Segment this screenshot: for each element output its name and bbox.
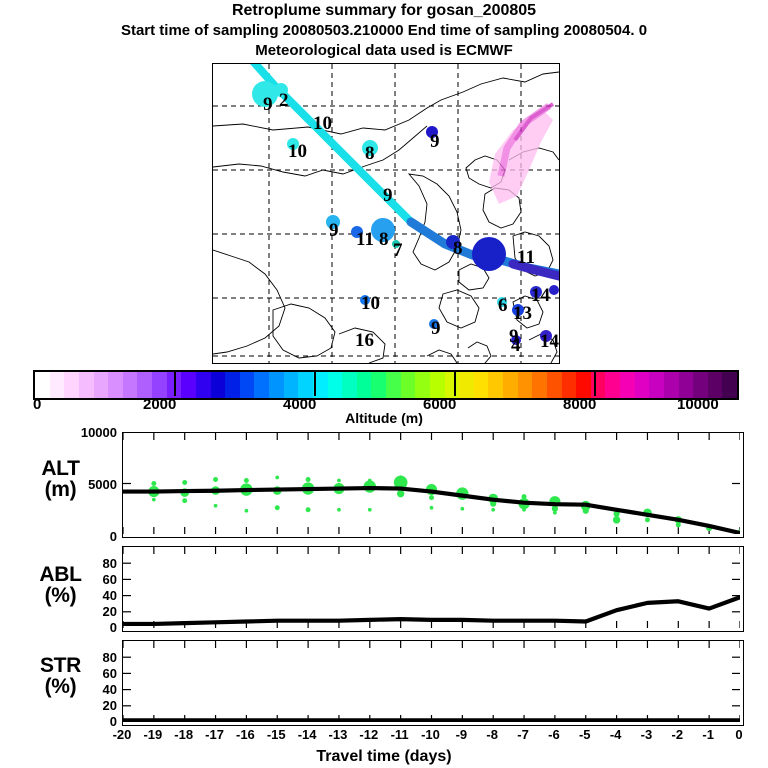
map-label-1: 2 [279,91,289,110]
retroplume-map[interactable]: 9210108999118781110916613149414 [212,63,560,364]
map-label-17: 13 [513,304,532,323]
colorbar-swatch-39 [605,372,620,398]
abl-ytick-0: 0 [55,620,117,635]
map-label-13: 10 [361,294,380,313]
map-label-15: 16 [355,331,374,350]
colorbar-swatch-36 [562,372,577,398]
colorbar-swatch-35 [547,372,562,398]
colorbar-swatch-15 [254,372,269,398]
colorbar-swatch-0 [35,372,50,398]
abl-plot-area[interactable] [122,546,744,632]
map-label-11: 8 [453,239,463,258]
colorbar-swatch-32 [503,372,518,398]
str-plot-canvas [123,641,740,722]
map-label-3: 10 [288,142,307,161]
map-label-6: 9 [383,186,393,205]
alt-plot-canvas [123,433,740,534]
colorbar-swatch-40 [620,372,635,398]
alt-ytick-0: 0 [55,529,117,544]
colorbar-swatch-20 [328,372,343,398]
colorbar-divider-4000 [314,370,316,396]
xaxis-title: Travel time (days) [0,748,768,766]
colorbar-swatch-28 [445,372,460,398]
abl-ytick-40: 40 [55,588,117,603]
colorbar-swatch-42 [649,372,664,398]
colorbar-swatch-8 [152,372,167,398]
str-ytick-60: 60 [55,666,117,681]
colorbar-swatch-46 [708,372,723,398]
colorbar-swatch-25 [401,372,416,398]
colorbar-swatch-4 [94,372,109,398]
colorbar-swatch-2 [64,372,79,398]
page-title: Retroplume summary for gosan_200805 [0,2,768,20]
colorbar-swatch-14 [240,372,255,398]
colorbar-swatch-5 [108,372,123,398]
colorbar-swatch-30 [474,372,489,398]
colorbar-swatch-26 [415,372,430,398]
map-label-21: 14 [540,332,559,351]
ytick-marks [123,657,740,706]
colorbar-divider-2000 [174,370,176,396]
colorbar-swatch-16 [269,372,284,398]
str-plot-area[interactable] [122,640,744,726]
map-label-7: 9 [329,221,339,240]
map-label-16: 6 [498,296,508,315]
colorbar-swatch-7 [137,372,152,398]
map-label-18: 14 [531,286,550,305]
map-coastlines [213,72,559,363]
colorbar-swatch-31 [488,372,503,398]
abl-plot-canvas [123,547,740,628]
colorbar-title: Altitude (m) [0,410,768,426]
colorbar-swatch-13 [225,372,240,398]
colorbar-swatch-17 [284,372,299,398]
map-label-10: 7 [393,241,403,260]
colorbar-swatch-33 [518,372,533,398]
colorbar-swatch-18 [298,372,313,398]
colorbar-swatch-3 [79,372,94,398]
map-label-0: 9 [263,95,273,114]
altitude-colorbar[interactable] [33,370,739,400]
sampling-times-line: Start time of sampling 20080503.210000 E… [0,22,768,39]
colorbar-swatch-23 [371,372,386,398]
map-label-14: 9 [431,319,441,338]
map-label-8: 11 [356,230,374,249]
map-label-20: 4 [511,336,521,355]
str-ytick-40: 40 [55,682,117,697]
colorbar-divider-6000 [454,370,456,396]
alt-ytick-10000: 10000 [55,425,117,440]
colorbar-swatch-41 [635,372,650,398]
colorbar-swatch-1 [50,372,65,398]
colorbar-swatch-22 [357,372,372,398]
colorbar-divider-8000 [594,370,596,396]
abl-line [123,597,740,624]
colorbar-swatch-34 [532,372,547,398]
map-label-9: 8 [379,230,389,249]
colorbar-swatch-29 [459,372,474,398]
str-ytick-80: 80 [55,650,117,665]
colorbar-swatch-45 [693,372,708,398]
tick-marks [123,641,740,722]
alt-plot-area[interactable] [122,432,744,538]
colorbar-swatch-11 [196,372,211,398]
alt-ytick-5000: 5000 [55,477,117,492]
abl-ytick-80: 80 [55,556,117,571]
abl-ytick-20: 20 [55,604,117,619]
map-label-2: 10 [313,114,332,133]
map-label-5: 9 [430,132,440,151]
colorbar-swatch-37 [576,372,591,398]
colorbar-swatch-6 [123,372,138,398]
colorbar-swatch-47 [722,372,737,398]
colorbar-swatch-24 [386,372,401,398]
colorbar-swatch-12 [211,372,226,398]
colorbar-swatch-38 [591,372,606,398]
map-label-4: 8 [365,144,375,163]
abl-ytick-60: 60 [55,572,117,587]
alt-scatter-points [148,475,740,534]
colorbar-swatch-21 [342,372,357,398]
xtick-0: 0 [721,727,757,742]
map-label-12: 11 [517,248,535,267]
tick-marks [123,547,740,628]
colorbar-swatch-27 [430,372,445,398]
colorbar-swatch-44 [679,372,694,398]
met-data-line: Meteorological data used is ECMWF [0,42,768,59]
colorbar-swatch-10 [181,372,196,398]
str-ytick-20: 20 [55,698,117,713]
colorbar-swatch-43 [664,372,679,398]
